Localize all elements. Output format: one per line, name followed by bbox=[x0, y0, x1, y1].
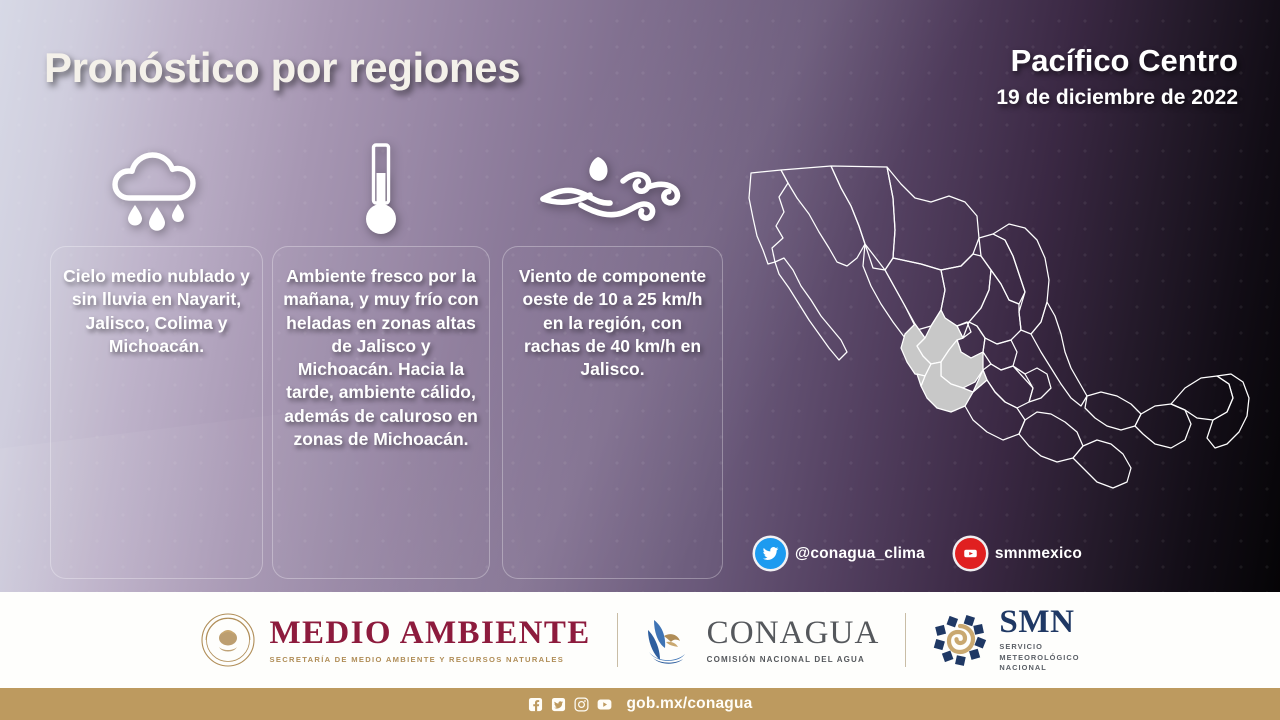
smn-subtitle: SERVICIOMETEOROLÓGICONACIONAL bbox=[999, 642, 1079, 674]
forecast-column-temperature: Ambiente fresco por la mañana, y muy frí… bbox=[272, 136, 490, 579]
forecast-card-sky: Cielo medio nublado y sin lluvia en Naya… bbox=[50, 246, 263, 579]
social-twitter[interactable]: @conagua_clima bbox=[755, 538, 925, 569]
region-title: Pacífico Centro bbox=[1011, 43, 1238, 79]
institutional-footer: MEDIO AMBIENTE SECRETARÍA DE MEDIO AMBIE… bbox=[0, 592, 1280, 688]
twitter-icon[interactable] bbox=[755, 538, 786, 569]
logo-smn: SMN SERVICIOMETEOROLÓGICONACIONAL bbox=[932, 606, 1079, 674]
twitter-icon[interactable] bbox=[551, 697, 566, 712]
facebook-icon[interactable] bbox=[528, 697, 543, 712]
forecast-column-wind: Viento de componente oeste de 10 a 25 km… bbox=[502, 136, 723, 579]
smn-title: SMN bbox=[999, 606, 1079, 639]
forecast-card-temperature: Ambiente fresco por la mañana, y muy frí… bbox=[272, 246, 490, 579]
forecast-date: 19 de diciembre de 2022 bbox=[996, 86, 1238, 110]
footer-divider-1 bbox=[617, 613, 618, 667]
logo-medio-ambiente: MEDIO AMBIENTE SECRETARÍA DE MEDIO AMBIE… bbox=[200, 612, 590, 668]
conagua-subtitle: COMISIÓN NACIONAL DEL AGUA bbox=[707, 655, 880, 664]
thermometer-icon bbox=[272, 136, 490, 246]
youtube-handle[interactable]: smnmexico bbox=[995, 545, 1082, 563]
gov-url[interactable]: gob.mx/conagua bbox=[627, 695, 753, 713]
mexico-map bbox=[735, 140, 1275, 530]
forecast-column-sky: Cielo medio nublado y sin lluvia en Naya… bbox=[50, 136, 263, 579]
twitter-handle[interactable]: @conagua_clima bbox=[795, 545, 925, 563]
rain-cloud-icon bbox=[50, 136, 263, 246]
medio-ambiente-title: MEDIO AMBIENTE bbox=[269, 617, 590, 650]
page-title: Pronóstico por regiones bbox=[44, 44, 520, 92]
instagram-icon[interactable] bbox=[574, 697, 589, 712]
youtube-icon[interactable] bbox=[597, 697, 612, 712]
medio-ambiente-subtitle: SECRETARÍA DE MEDIO AMBIENTE Y RECURSOS … bbox=[269, 655, 590, 664]
wind-icon bbox=[502, 136, 723, 246]
forecast-card-wind: Viento de componente oeste de 10 a 25 km… bbox=[502, 246, 723, 579]
conagua-title: CONAGUA bbox=[707, 617, 880, 650]
social-links: @conagua_clima smnmexico bbox=[755, 538, 1082, 569]
youtube-icon[interactable] bbox=[955, 538, 986, 569]
mexico-seal-icon bbox=[200, 612, 256, 668]
smn-spiral-icon bbox=[932, 612, 988, 668]
gov-bottom-bar: gob.mx/conagua bbox=[0, 688, 1280, 720]
infographic-stage: Pronóstico por regiones Pacífico Centro … bbox=[0, 0, 1280, 592]
logo-conagua: CONAGUA COMISIÓN NACIONAL DEL AGUA bbox=[644, 612, 880, 668]
social-youtube[interactable]: smnmexico bbox=[955, 538, 1082, 569]
footer-divider-2 bbox=[905, 613, 906, 667]
conagua-water-icon bbox=[644, 612, 696, 668]
